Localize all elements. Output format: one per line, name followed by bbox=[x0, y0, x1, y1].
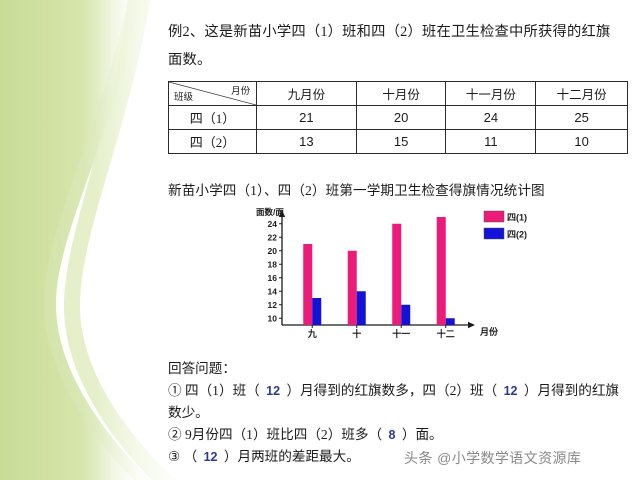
y-tick-label-6: 22 bbox=[268, 232, 278, 242]
question-2-marker: ② bbox=[168, 427, 182, 442]
question-1: ① 四（1）班（ 12 ）月得到的红旗数多，四（2）班（ 12 ）月得到的红旗数… bbox=[168, 380, 620, 424]
bar-chart: 面数/面1012141618202224月份九十十一十二四(1)四(2) bbox=[240, 203, 530, 353]
table-row: 四（1） 21 20 24 25 bbox=[169, 106, 628, 130]
bar-十二-series1 bbox=[437, 217, 446, 325]
y-tick-label-2: 14 bbox=[268, 286, 278, 296]
table-corner-cell: 月份 班级 bbox=[169, 82, 257, 106]
question-1-part-a: 四（1）班（ bbox=[185, 383, 260, 398]
table-col-header-1: 十月份 bbox=[356, 82, 446, 106]
legend-swatch-2 bbox=[484, 228, 504, 239]
x-axis-label: 月份 bbox=[479, 326, 499, 337]
bar-十二-series2 bbox=[446, 318, 455, 325]
cell-1-0: 13 bbox=[257, 130, 357, 154]
y-tick-label-1: 12 bbox=[268, 300, 278, 310]
bar-十一-series2 bbox=[401, 305, 410, 325]
bar-十一-series1 bbox=[392, 224, 401, 325]
question-3-answer[interactable]: 12 bbox=[201, 450, 221, 464]
x-tick-label-0: 九 bbox=[307, 328, 317, 339]
question-2-part-a: 9月份四（1）班比四（2）班多（ bbox=[185, 427, 382, 442]
cell-1-2: 11 bbox=[446, 130, 536, 154]
chart-title: 新苗小学四（1）、四（2）班第一学期卫生检查得旗情况统计图 bbox=[168, 179, 624, 199]
y-tick-label-4: 18 bbox=[268, 259, 278, 269]
question-2-answer[interactable]: 8 bbox=[386, 428, 399, 442]
question-2-part-b: ）面。 bbox=[402, 427, 443, 442]
question-3-marker: ③ bbox=[168, 449, 180, 464]
cell-1-1: 15 bbox=[356, 130, 446, 154]
bar-十-series2 bbox=[357, 291, 366, 325]
question-1-marker: ① bbox=[168, 383, 182, 398]
table-col-header-0: 九月份 bbox=[257, 82, 357, 106]
watermark: 头条 @小学数学语文资源库 bbox=[404, 448, 581, 468]
cell-0-0: 21 bbox=[257, 106, 357, 130]
intro-paragraph: 例2、这是新苗小学四（1）班和四（2）班在卫生检查中所获得的红旗面数。 bbox=[168, 18, 620, 74]
question-3-part-b: ）月两班的差距最大。 bbox=[224, 449, 360, 464]
slide-content: 例2、这是新苗小学四（1）班和四（2）班在卫生检查中所获得的红旗面数。 月份 班… bbox=[168, 0, 628, 480]
y-tick-label-0: 10 bbox=[268, 313, 278, 323]
table-col-header-3: 十二月份 bbox=[536, 82, 628, 106]
row-label-0: 四（1） bbox=[169, 106, 257, 130]
cell-0-1: 20 bbox=[356, 106, 446, 130]
table-col-header-2: 十一月份 bbox=[446, 82, 536, 106]
bar-九-series1 bbox=[303, 244, 312, 325]
question-3-part-a: （ bbox=[184, 449, 198, 464]
x-axis-arrow-icon bbox=[468, 322, 475, 328]
row-label-1: 四（2） bbox=[169, 130, 257, 154]
cell-0-2: 24 bbox=[446, 106, 536, 130]
table-header-row: 月份 班级 九月份 十月份 十一月份 十二月份 bbox=[169, 82, 628, 106]
data-table: 月份 班级 九月份 十月份 十一月份 十二月份 四（1） 21 20 24 25 bbox=[168, 81, 628, 154]
x-tick-label-1: 十 bbox=[352, 328, 361, 339]
bar-九-series2 bbox=[312, 298, 321, 325]
question-2: ② 9月份四（1）班比四（2）班多（ 8 ）面。 bbox=[168, 424, 620, 447]
bar-chart-svg: 面数/面1012141618202224月份九十十一十二四(1)四(2) bbox=[240, 203, 530, 353]
x-tick-label-2: 十一 bbox=[392, 328, 410, 339]
question-1-answer-b[interactable]: 12 bbox=[501, 384, 521, 398]
cell-0-3: 25 bbox=[536, 106, 628, 130]
legend-label-2: 四(2) bbox=[507, 230, 527, 240]
corner-top-label: 月份 bbox=[231, 83, 250, 97]
bar-十-series1 bbox=[348, 251, 357, 325]
y-tick-label-7: 24 bbox=[268, 219, 278, 229]
questions-heading: 回答问题： bbox=[168, 358, 620, 380]
data-table-wrapper: 月份 班级 九月份 十月份 十一月份 十二月份 四（1） 21 20 24 25 bbox=[168, 81, 628, 154]
cell-1-3: 10 bbox=[536, 130, 628, 154]
legend-label-1: 四(1) bbox=[507, 213, 527, 223]
corner-bottom-label: 班级 bbox=[174, 89, 193, 103]
question-1-answer-a[interactable]: 12 bbox=[263, 384, 283, 398]
question-1-part-b: ）月得到的红旗数多，四（2）班（ bbox=[286, 383, 497, 398]
table-row: 四（2） 13 15 11 10 bbox=[169, 130, 628, 154]
y-tick-label-3: 16 bbox=[268, 273, 278, 283]
y-tick-label-5: 20 bbox=[268, 246, 278, 256]
slide-canvas: 例2、这是新苗小学四（1）班和四（2）班在卫生检查中所获得的红旗面数。 月份 班… bbox=[0, 0, 640, 480]
x-tick-label-3: 十二 bbox=[437, 328, 455, 339]
legend-swatch-1 bbox=[484, 211, 504, 222]
